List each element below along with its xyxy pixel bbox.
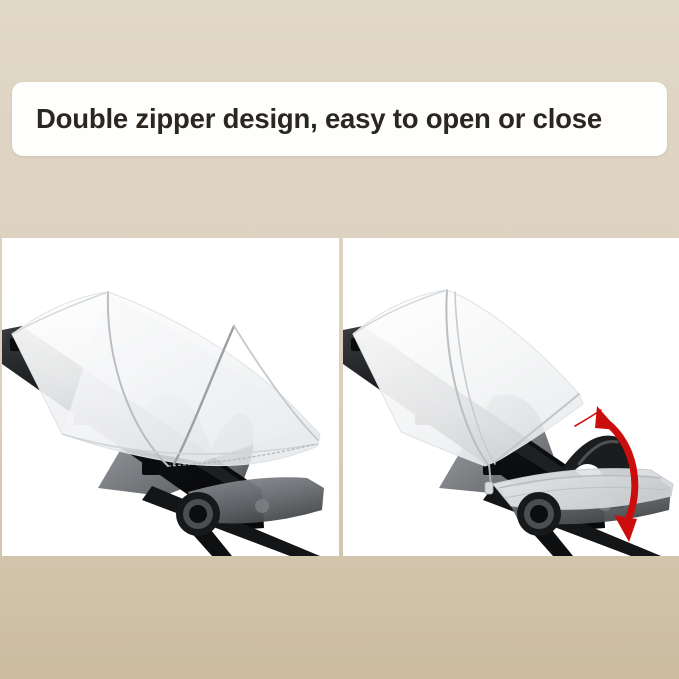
- product-photo-open: [343, 238, 679, 556]
- stroller-net-open-illustration: [343, 238, 679, 556]
- zipper-pull: [485, 482, 493, 494]
- product-photo-closed: [2, 238, 339, 556]
- frame-clip-lower: [142, 460, 160, 475]
- headline-banner: Double zipper design, easy to open or cl…: [12, 82, 667, 156]
- headline-text: Double zipper design, easy to open or cl…: [12, 103, 602, 135]
- stroller-hinge-inner: [189, 505, 207, 523]
- stroller-net-closed-illustration: [2, 238, 339, 556]
- page-root: Double zipper design, easy to open or cl…: [0, 0, 679, 679]
- seat-button: [255, 499, 269, 513]
- stroller-hinge-inner: [530, 505, 548, 523]
